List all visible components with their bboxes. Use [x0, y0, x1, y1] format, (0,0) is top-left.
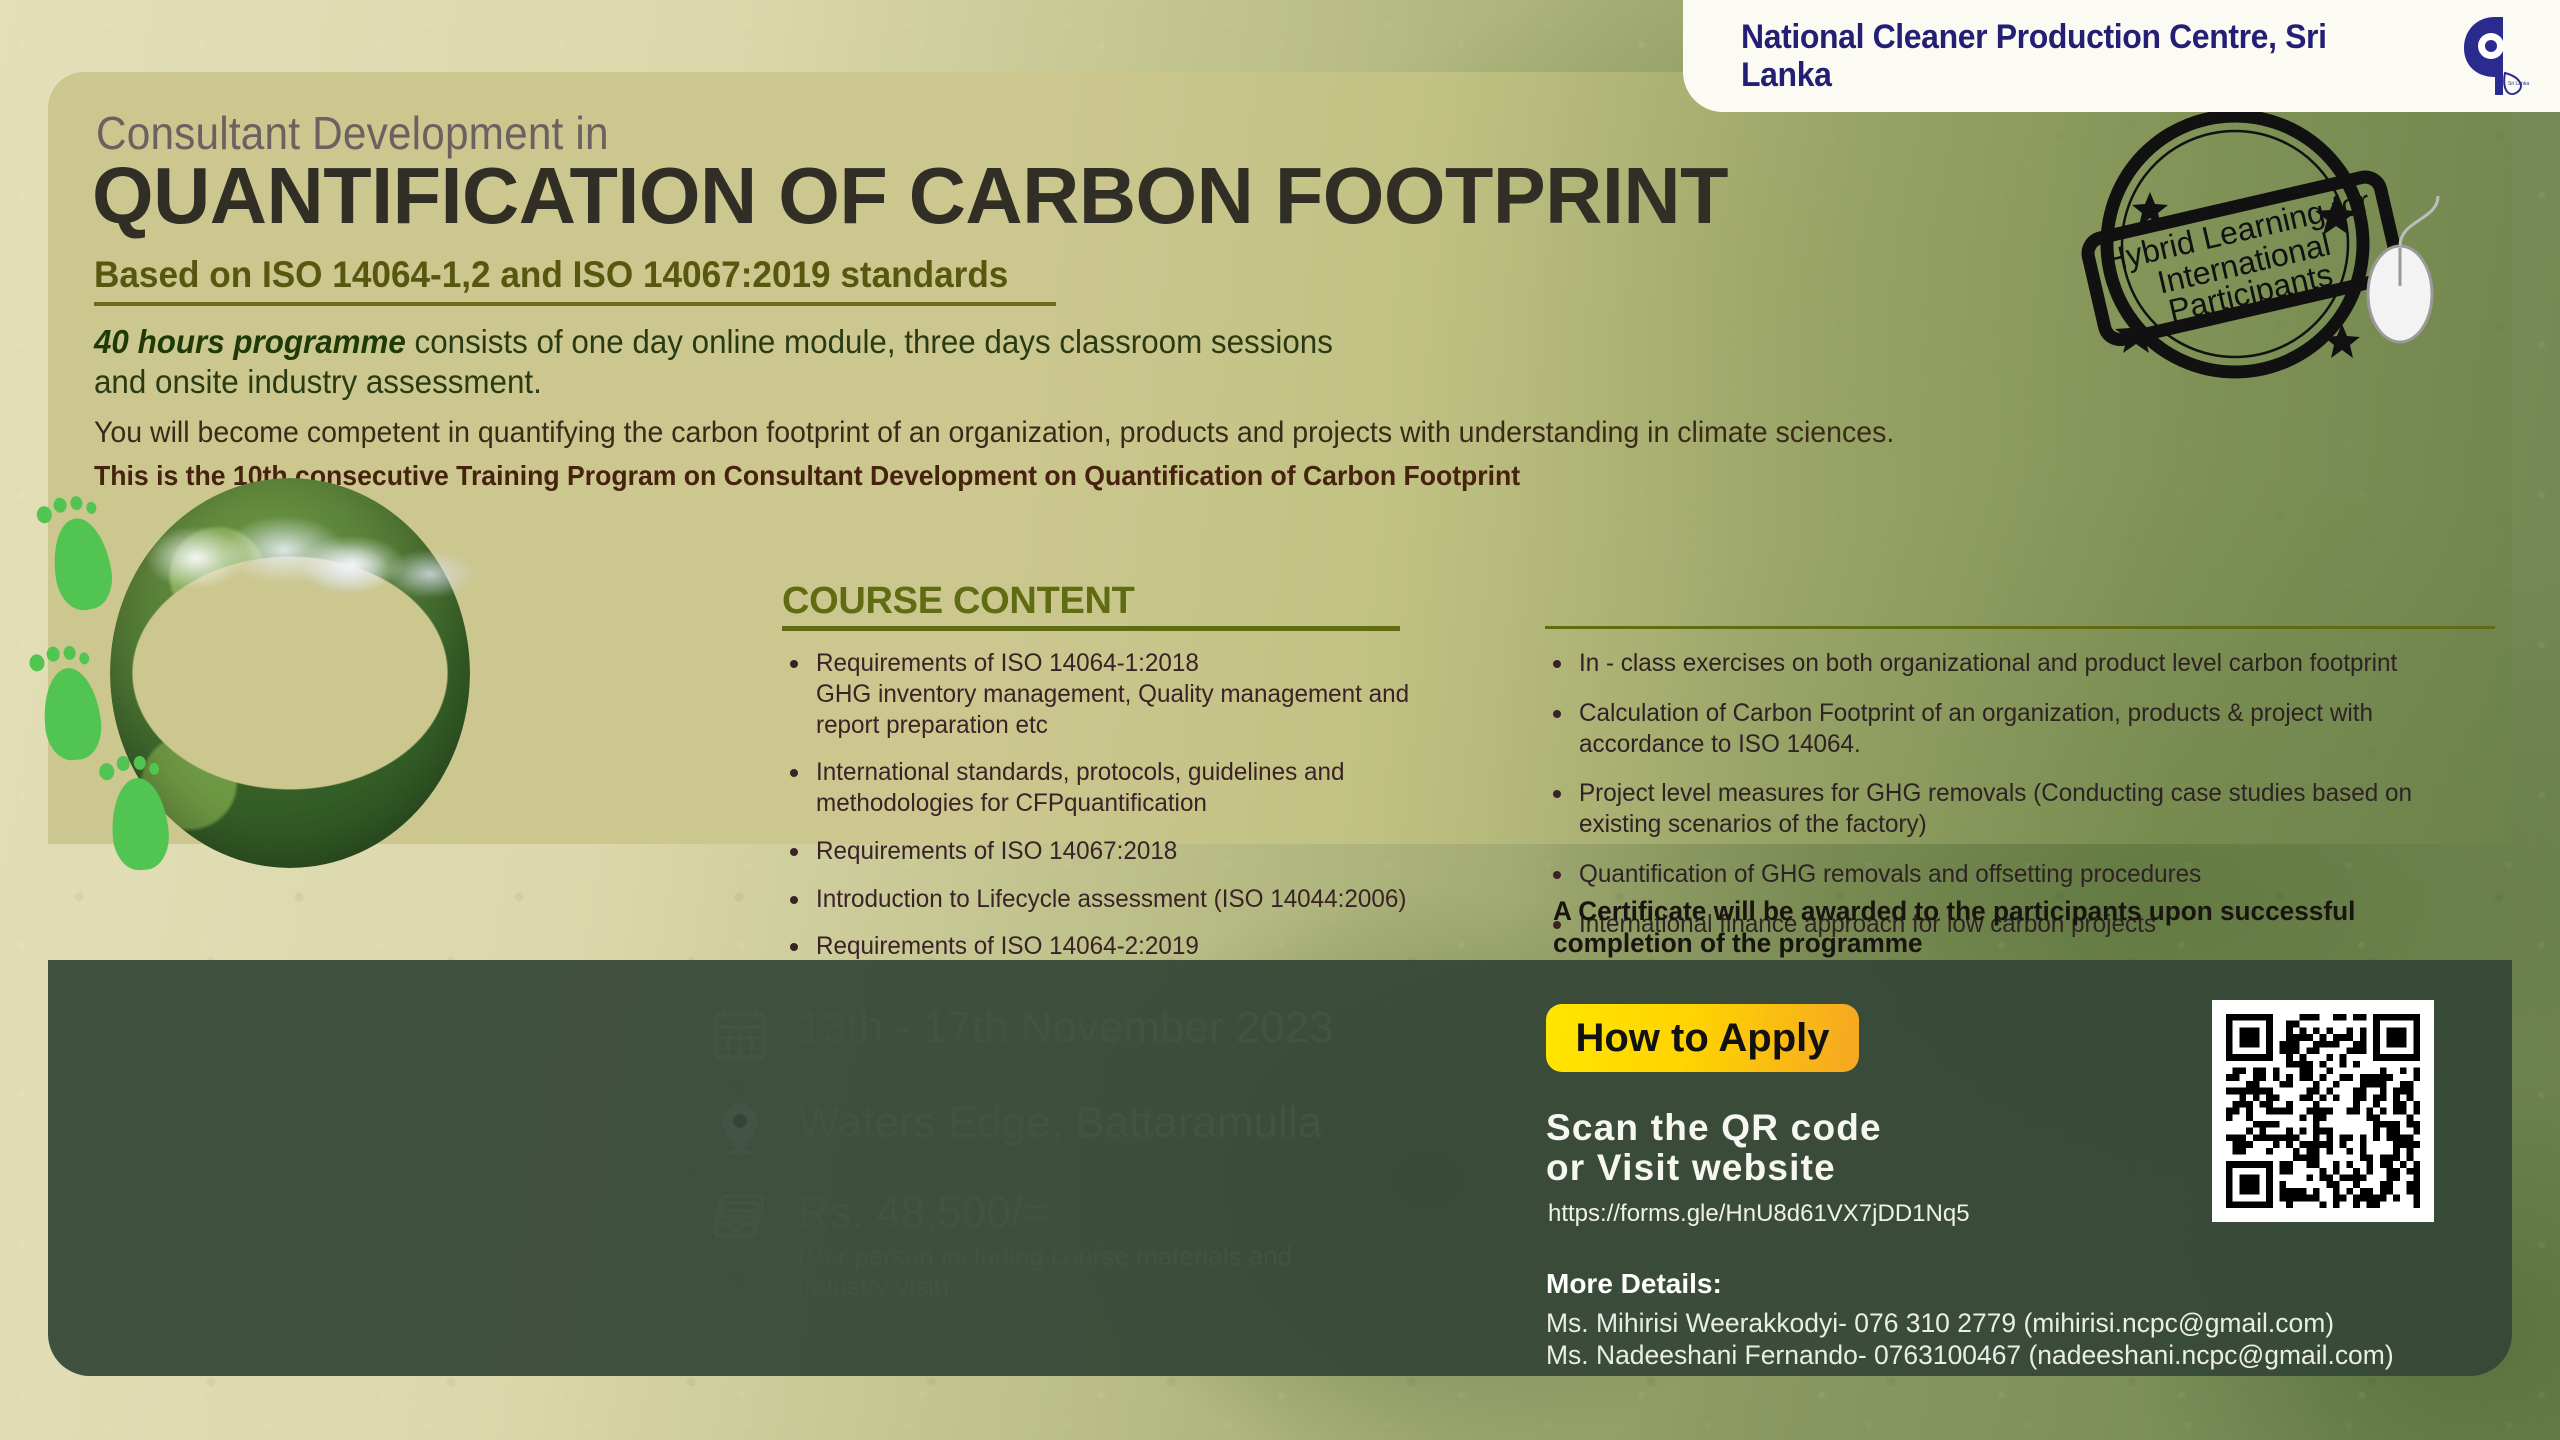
scan-line-2: or Visit website [1546, 1148, 2166, 1188]
apply-url-link[interactable]: https://forms.gle/HnU8d61VX7jDD1Nq5 [1548, 1200, 1970, 1228]
hero-intro-block: 40 hours programme consists of one day o… [94, 322, 1514, 492]
contact-person-2: Ms. Nadeeshani Fernando- 0763100467 (nad… [1546, 1340, 2394, 1371]
course-bullet-text: International standards, protocols, guid… [816, 757, 1470, 819]
course-bullet-item: Introduction to Lifecycle assessment (IS… [790, 884, 1490, 915]
hybrid-learning-stamp-icon: Hybrid Learning for International Partic… [2050, 96, 2460, 396]
course-bullet-text: In - class exercises on both organizatio… [1579, 648, 2397, 679]
qr-code-icon[interactable] [2212, 1000, 2434, 1222]
bullet-dot-icon [1553, 871, 1561, 879]
certificate-note: A Certificate will be awarded to the par… [1553, 895, 2484, 960]
footprint-icon [39, 665, 104, 762]
scan-line-1: Scan the QR code [1546, 1108, 2166, 1148]
hero-subtitle-wrap: Based on ISO 14064-1,2 and ISO 14067:201… [94, 254, 1056, 306]
course-bullet-item: Project level measures for GHG removals … [1553, 778, 2503, 840]
computer-mouse-icon [2368, 196, 2438, 342]
qr-code-matrix [2226, 1014, 2420, 1208]
course-content-heading: COURSE CONTENT [782, 580, 1135, 623]
course-bullet-text: Requirements of ISO 14067:2018 [816, 836, 1177, 867]
course-content-heading-wrap: COURSE CONTENT [782, 580, 1135, 623]
course-rule-left [782, 626, 1400, 631]
bullet-dot-icon [1553, 790, 1561, 798]
course-bullets-left: Requirements of ISO 14064-1:2018GHG inve… [790, 648, 1490, 979]
bullet-dot-icon [790, 769, 798, 777]
course-bullet-item: In - class exercises on both organizatio… [1553, 648, 2503, 679]
org-header: National Cleaner Production Centre, Sri … [1683, 0, 2560, 112]
bullet-dot-icon [790, 848, 798, 856]
bullet-dot-icon [1553, 660, 1561, 668]
course-bullet-item: International standards, protocols, guid… [790, 757, 1490, 819]
intro-lead-rest: consists of one day online module, three… [406, 323, 1333, 360]
course-rule-right [1545, 626, 2495, 629]
intro-lead-line2: and onsite industry assessment. [94, 363, 542, 400]
course-bullet-text: Introduction to Lifecycle assessment (IS… [816, 884, 1406, 915]
bullet-dot-icon [790, 943, 798, 951]
ncpc-logo-icon: Sri Lanka [2458, 15, 2532, 97]
course-bullet-text: Requirements of ISO 14064-1:2018GHG inve… [816, 648, 1470, 740]
hours-highlight: 40 hours programme [94, 323, 406, 360]
bullet-dot-icon [790, 896, 798, 904]
cloud-icon [278, 512, 488, 622]
course-bullet-item: Requirements of ISO 14064-1:2018GHG inve… [790, 648, 1490, 740]
course-bullet-text: Requirements of ISO 14064-2:2019 [816, 931, 1199, 962]
hero-subtitle: Based on ISO 14064-1,2 and ISO 14067:201… [94, 254, 1008, 296]
intro-lead: 40 hours programme consists of one day o… [94, 322, 1443, 403]
how-to-apply-button[interactable]: How to Apply [1546, 1004, 1859, 1072]
course-bullet-item: Quantification of GHG removals and offse… [1553, 859, 2503, 890]
footprint-icon [109, 776, 171, 872]
course-bullet-text: Project level measures for GHG removals … [1579, 778, 2475, 840]
course-bullet-text: Quantification of GHG removals and offse… [1579, 859, 2201, 890]
course-bullet-item: Calculation of Carbon Footprint of an or… [1553, 698, 2503, 760]
org-title: National Cleaner Production Centre, Sri … [1741, 18, 2398, 94]
scan-instruction: Scan the QR code or Visit website [1546, 1108, 2166, 1187]
page-title: QUANTIFICATION OF CARBON FOOTPRINT [92, 150, 1728, 242]
course-bullet-item: Requirements of ISO 14067:2018 [790, 836, 1490, 867]
bullet-dot-icon [1553, 710, 1561, 718]
course-bullet-text: Calculation of Carbon Footprint of an or… [1579, 698, 2475, 760]
intro-competency-text: You will become competent in quantifying… [94, 415, 1443, 451]
course-bullet-item: Requirements of ISO 14064-2:2019 [790, 931, 1490, 962]
svg-text:Sri Lanka: Sri Lanka [2508, 81, 2529, 87]
more-details-title: More Details: [1546, 1268, 1722, 1300]
bullet-dot-icon [790, 660, 798, 668]
contact-person-1: Ms. Mihirisi Weerakkodyi- 076 310 2779 (… [1546, 1308, 2334, 1339]
